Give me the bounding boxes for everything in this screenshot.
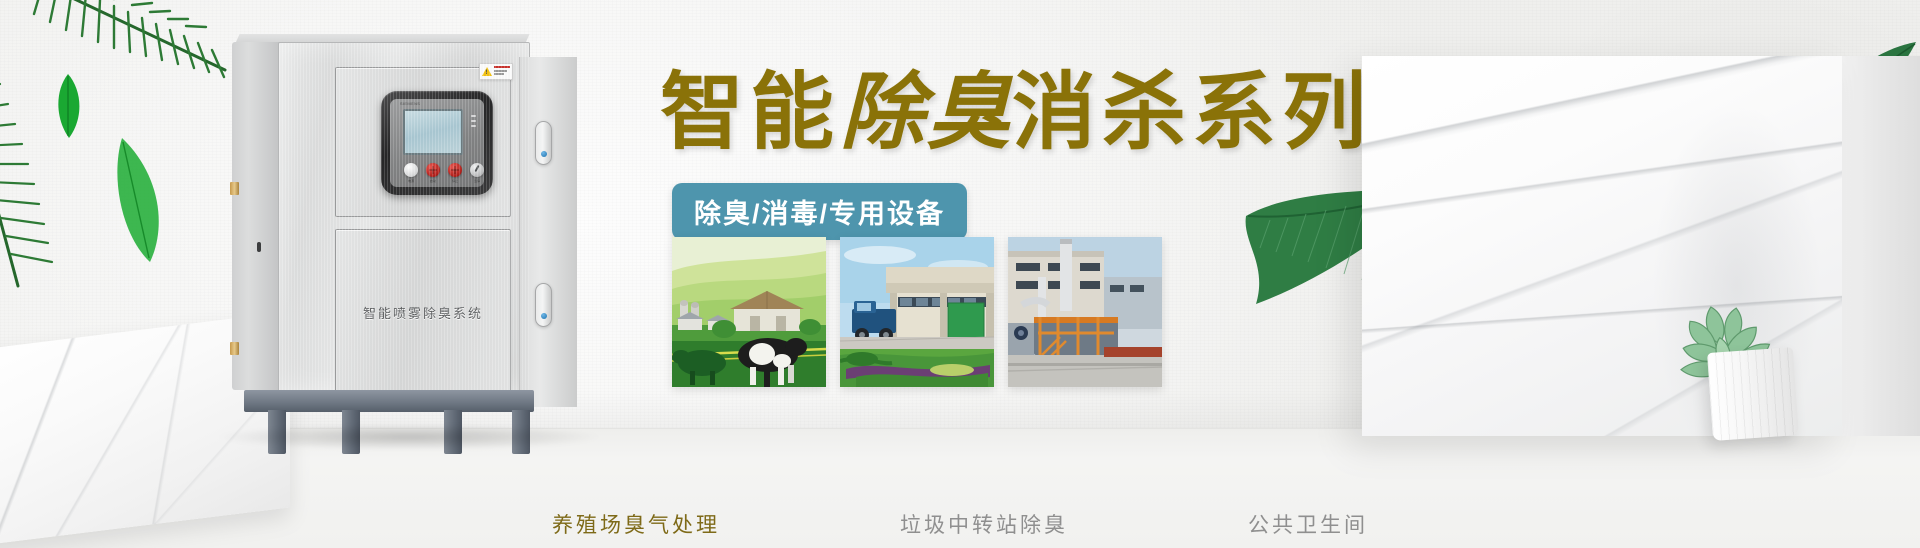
product-banner: SIEMENS 电源 启动 停止 急停 xyxy=(0,0,1920,548)
power-button[interactable] xyxy=(404,163,418,177)
cabinet-right-column xyxy=(519,57,577,407)
bottom-item-2: 垃圾中转站除臭 xyxy=(900,509,1068,539)
button-label-estop: 急停 xyxy=(470,179,484,183)
high-voltage-warning-label xyxy=(479,63,513,80)
palm-frond-top-left-icon xyxy=(20,0,250,98)
cabinet-door-upper xyxy=(335,67,511,217)
green-leaf-long-icon xyxy=(106,136,186,266)
palm-frond-left-edge-icon xyxy=(0,72,90,302)
cabinet-keyhole-icon xyxy=(257,242,261,252)
start-button[interactable] xyxy=(426,163,440,177)
thumbnail-farm-pasture[interactable] xyxy=(672,237,826,387)
cabinet-caption: 智能喷雾除臭系统 xyxy=(335,229,511,395)
selector-knob[interactable] xyxy=(470,163,484,177)
button-label-power: 电源 xyxy=(404,179,418,183)
headline-segment-2: 消杀系列 xyxy=(1012,65,1372,159)
bottom-item-1: 养殖场臭气处理 xyxy=(552,509,720,539)
hmi-button-labels: 电源 启动 停止 急停 xyxy=(404,179,484,183)
status-badge: 除臭/消毒/专用设备 xyxy=(672,183,967,240)
marble-card-fold xyxy=(1838,56,1920,436)
cabinet-door-lower xyxy=(335,229,511,395)
cabinet-hinge-icon xyxy=(230,182,239,195)
hmi-status-leds-icon xyxy=(471,115,476,130)
cabinet-hinge-icon xyxy=(230,342,239,355)
cabinet-base-bar xyxy=(244,390,534,412)
handle-lock-dot-icon xyxy=(541,151,547,157)
warning-text-lines xyxy=(494,66,510,77)
thumbnail-car-wash-station[interactable] xyxy=(840,237,994,387)
bottom-caption-strip: 养殖场臭气处理 垃圾中转站除臭 公共卫生间 xyxy=(0,500,1920,548)
deodorization-cabinet: SIEMENS 电源 启动 停止 急停 xyxy=(232,28,577,438)
page-title: 智能除臭消杀系列 xyxy=(660,70,1372,156)
button-label-stop: 停止 xyxy=(448,179,462,183)
hmi-brand-label: SIEMENS xyxy=(400,101,420,106)
headline-segment-1: 智能 xyxy=(660,65,840,159)
machine-ground-shadow xyxy=(214,424,604,450)
stop-button[interactable] xyxy=(448,163,462,177)
hmi-inner-plate: SIEMENS 电源 启动 停止 急停 xyxy=(390,99,484,187)
plant-pot xyxy=(1707,347,1799,441)
thumbnail-gallery xyxy=(672,237,1162,387)
headline-segment-script: 除臭 xyxy=(840,67,1012,160)
cabinet-front-face: SIEMENS 电源 启动 停止 急停 xyxy=(278,42,530,392)
cabinet-handle-lower[interactable] xyxy=(535,283,552,327)
hmi-button-row xyxy=(404,163,484,177)
handle-lock-dot-icon xyxy=(541,313,547,319)
green-leaf-small-icon xyxy=(48,72,88,142)
hmi-control-panel[interactable]: SIEMENS 电源 启动 停止 急停 xyxy=(381,91,493,195)
hmi-screen[interactable] xyxy=(403,109,463,155)
bottom-item-3: 公共卫生间 xyxy=(1248,509,1368,539)
warning-triangle-icon xyxy=(482,67,492,76)
cabinet-handle-upper[interactable] xyxy=(535,121,552,165)
button-label-start: 启动 xyxy=(426,179,440,183)
thumbnail-industrial-plant[interactable] xyxy=(1008,237,1162,387)
